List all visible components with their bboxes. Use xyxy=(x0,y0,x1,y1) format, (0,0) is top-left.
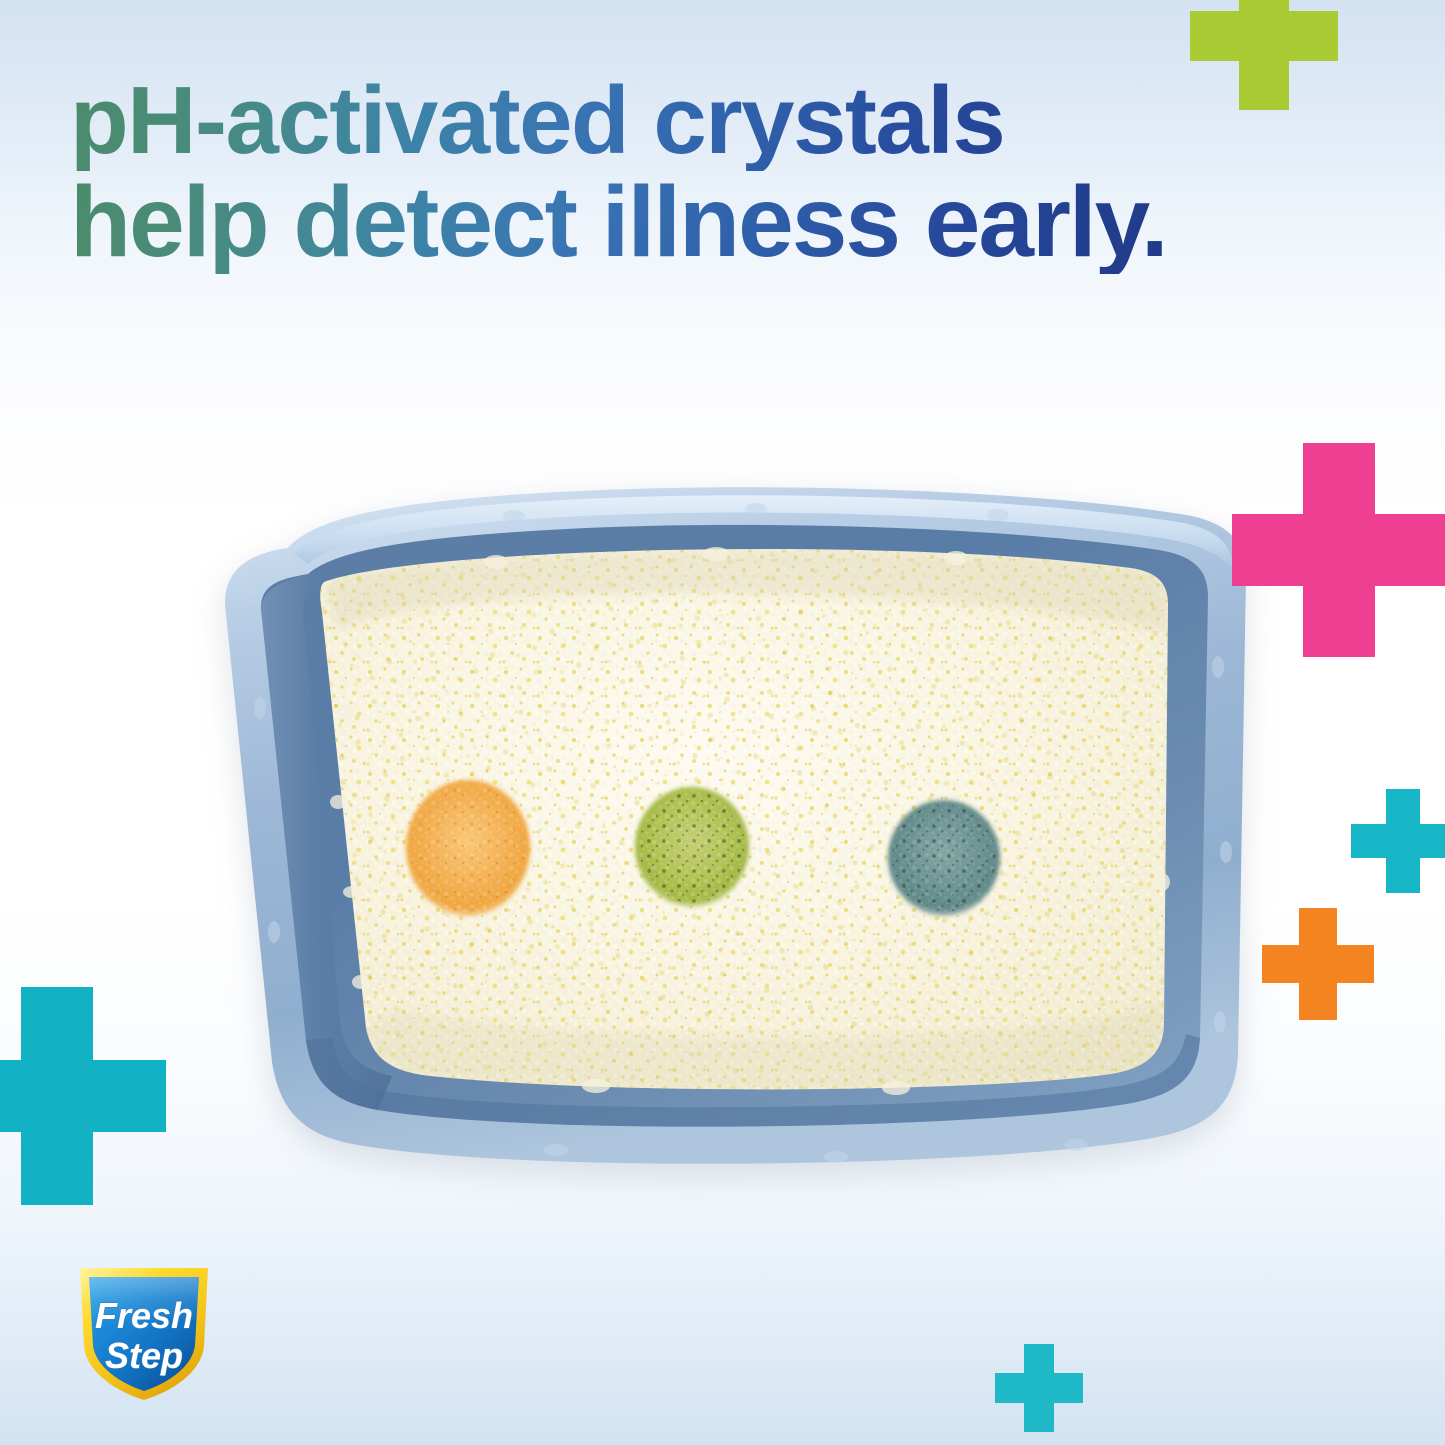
indicator-spot-orange xyxy=(406,780,530,916)
litter-box-photo xyxy=(196,462,1256,1222)
cross-teal-right-mid-icon xyxy=(1351,789,1445,893)
logo-word-step: Step xyxy=(105,1335,183,1376)
headline-line-2: help detect illness early. xyxy=(70,171,1380,274)
fresh-step-logo: Fresh Step xyxy=(64,1258,224,1408)
cross-teal-bottom-icon xyxy=(995,1344,1083,1432)
cross-teal-left-large-icon xyxy=(0,987,166,1205)
product-marketing-image: pH-activated crystals help detect illnes… xyxy=(0,0,1445,1445)
cross-pink-right-icon xyxy=(1232,443,1445,657)
cross-orange-right-icon xyxy=(1262,908,1374,1020)
logo-word-fresh: Fresh xyxy=(95,1295,193,1336)
indicator-spot-teal xyxy=(888,800,1000,916)
page-title: pH-activated crystals help detect illnes… xyxy=(70,72,1380,274)
headline-line-1: pH-activated crystals xyxy=(70,72,1380,171)
indicator-spot-green xyxy=(635,787,749,907)
litter-bed xyxy=(296,532,1196,1112)
